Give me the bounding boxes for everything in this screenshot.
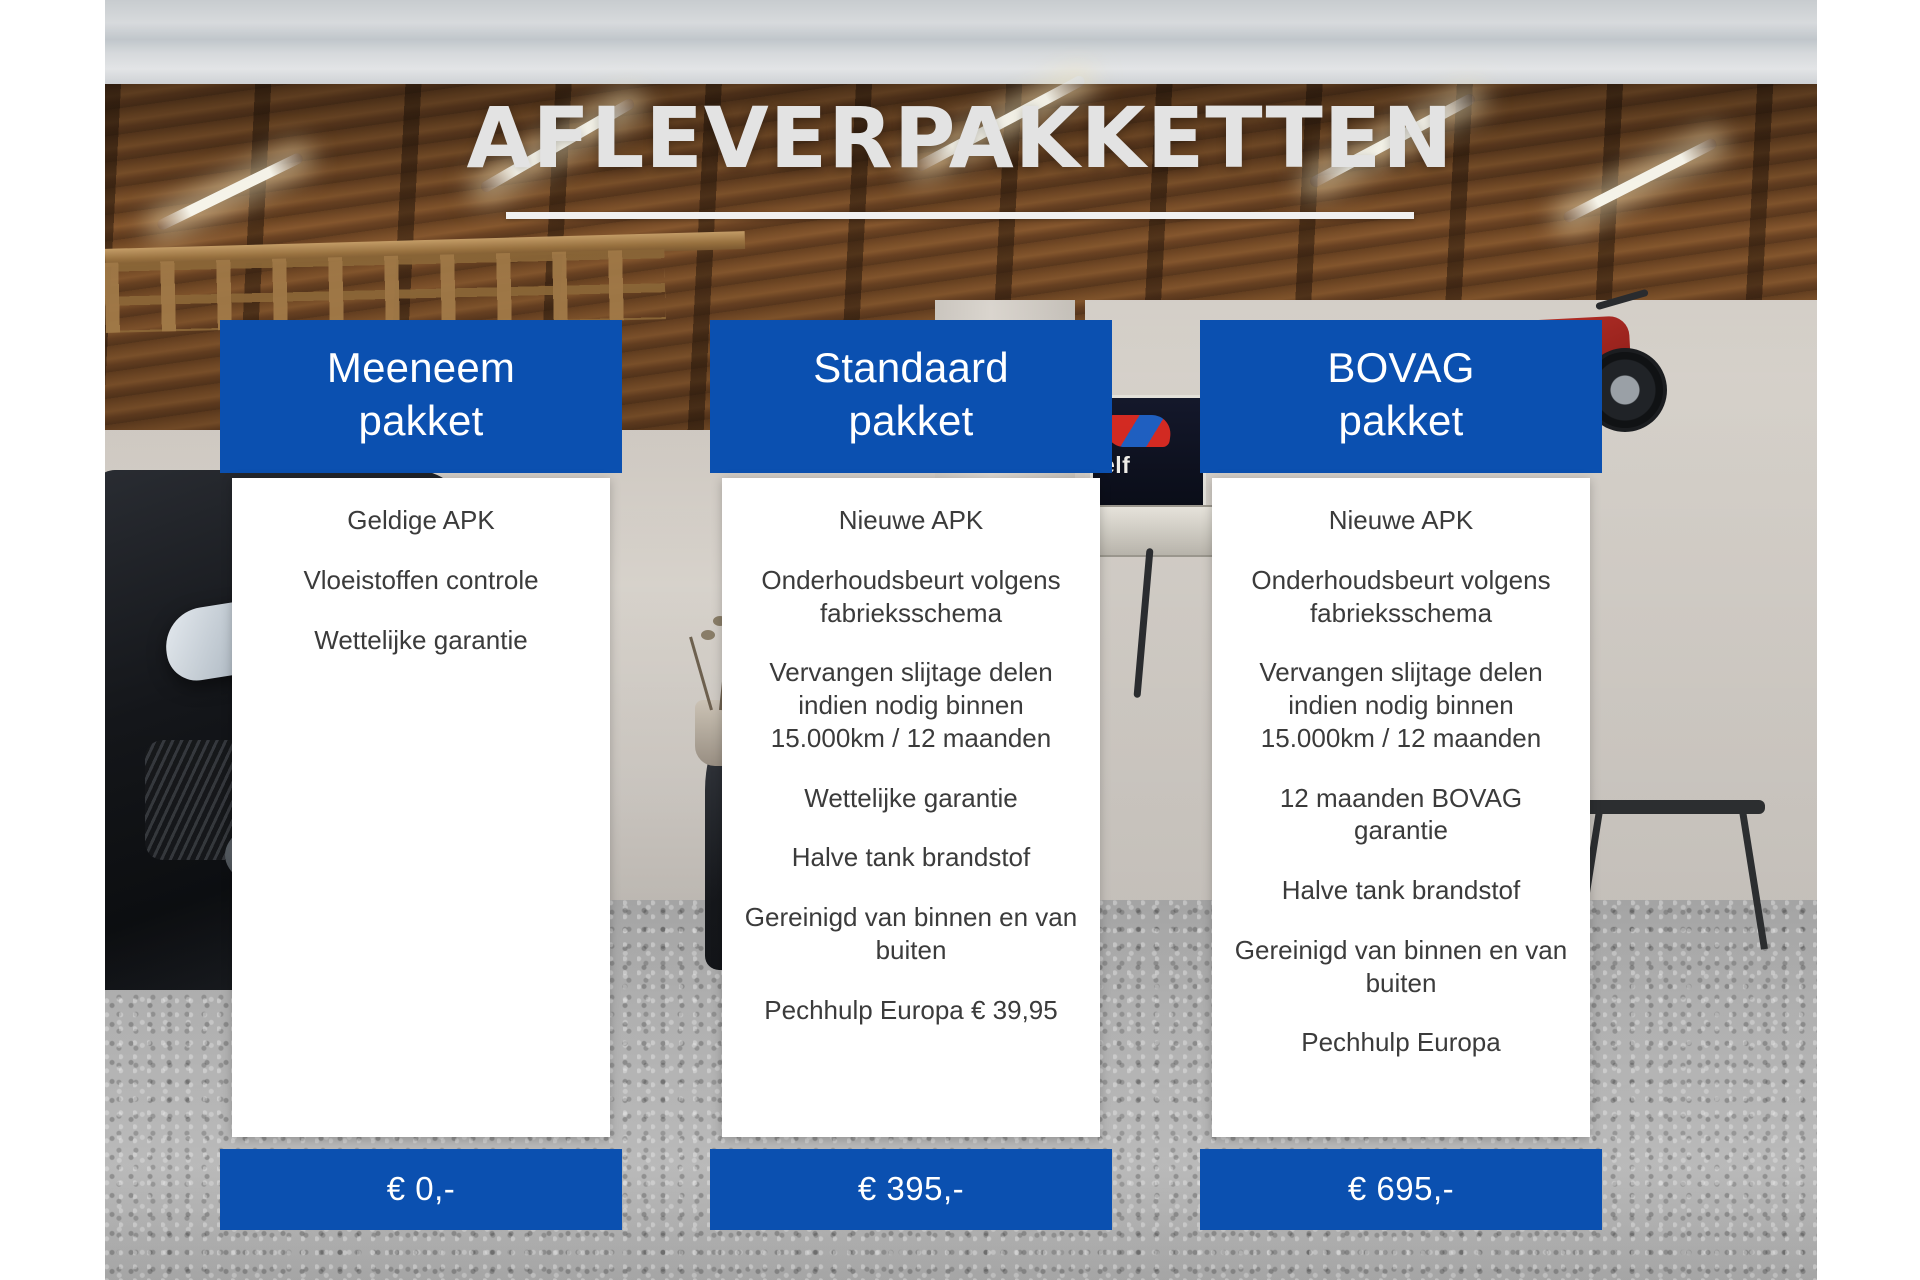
- feature-item: Gereinigd van binnen en van buiten: [744, 901, 1078, 967]
- card-title-line2: pakket: [724, 395, 1098, 448]
- feature-item: Nieuwe APK: [1234, 504, 1568, 537]
- feature-item: Onderhoudsbeurt volgens fabrieksschema: [744, 564, 1078, 630]
- feature-list-bovag: Nieuwe APK Onderhoudsbeurt volgens fabri…: [1234, 504, 1568, 1059]
- package-cards: Meeneem pakket Geldige APK Vloeistoffen …: [105, 320, 1817, 1230]
- feature-item: Nieuwe APK: [744, 504, 1078, 537]
- feature-item: Geldige APK: [254, 504, 588, 537]
- feature-item: Onderhoudsbeurt volgens fabrieksschema: [1234, 564, 1568, 630]
- title-block: AFLEVERPAKKETTEN: [0, 96, 1920, 219]
- card-price-bovag[interactable]: € 695,-: [1200, 1149, 1602, 1230]
- card-body-standaard: Nieuwe APK Onderhoudsbeurt volgens fabri…: [722, 478, 1100, 1137]
- feature-item: Halve tank brandstof: [1234, 874, 1568, 907]
- card-body-meeneem: Geldige APK Vloeistoffen controle Wettel…: [232, 478, 610, 1137]
- card-title-line1: Meeneem: [327, 344, 515, 391]
- feature-list-standaard: Nieuwe APK Onderhoudsbeurt volgens fabri…: [744, 504, 1078, 1026]
- card-price-meeneem[interactable]: € 0,-: [220, 1149, 622, 1230]
- ceiling-strip: [105, 0, 1817, 88]
- card-title-line2: pakket: [234, 395, 608, 448]
- title-underline: [506, 212, 1414, 219]
- feature-item: Vloeistoffen controle: [254, 564, 588, 597]
- feature-item: Vervangen slijtage delen indien nodig bi…: [744, 656, 1078, 754]
- feature-item: Wettelijke garantie: [744, 782, 1078, 815]
- package-card-bovag[interactable]: BOVAG pakket Nieuwe APK Onderhoudsbeurt …: [1200, 320, 1602, 1230]
- feature-item: Wettelijke garantie: [254, 624, 588, 657]
- card-header-standaard: Standaard pakket: [710, 320, 1112, 473]
- card-header-meeneem: Meeneem pakket: [220, 320, 622, 473]
- card-header-bovag: BOVAG pakket: [1200, 320, 1602, 473]
- card-price-standaard[interactable]: € 395,-: [710, 1149, 1112, 1230]
- card-title-line1: BOVAG: [1327, 344, 1474, 391]
- pricing-slide: elf: [0, 0, 1920, 1280]
- feature-item: Pechhulp Europa € 39,95: [744, 994, 1078, 1027]
- package-card-standaard[interactable]: Standaard pakket Nieuwe APK Onderhoudsbe…: [710, 320, 1112, 1230]
- card-body-bovag: Nieuwe APK Onderhoudsbeurt volgens fabri…: [1212, 478, 1590, 1137]
- card-title-line2: pakket: [1214, 395, 1588, 448]
- feature-list-meeneem: Geldige APK Vloeistoffen controle Wettel…: [254, 504, 588, 656]
- package-card-meeneem[interactable]: Meeneem pakket Geldige APK Vloeistoffen …: [220, 320, 622, 1230]
- feature-item: 12 maanden BOVAG garantie: [1234, 782, 1568, 848]
- feature-item: Vervangen slijtage delen indien nodig bi…: [1234, 656, 1568, 754]
- feature-item: Pechhulp Europa: [1234, 1026, 1568, 1059]
- page-title: AFLEVERPAKKETTEN: [0, 96, 1920, 182]
- feature-item: Halve tank brandstof: [744, 841, 1078, 874]
- card-title-line1: Standaard: [813, 344, 1009, 391]
- feature-item: Gereinigd van binnen en van buiten: [1234, 934, 1568, 1000]
